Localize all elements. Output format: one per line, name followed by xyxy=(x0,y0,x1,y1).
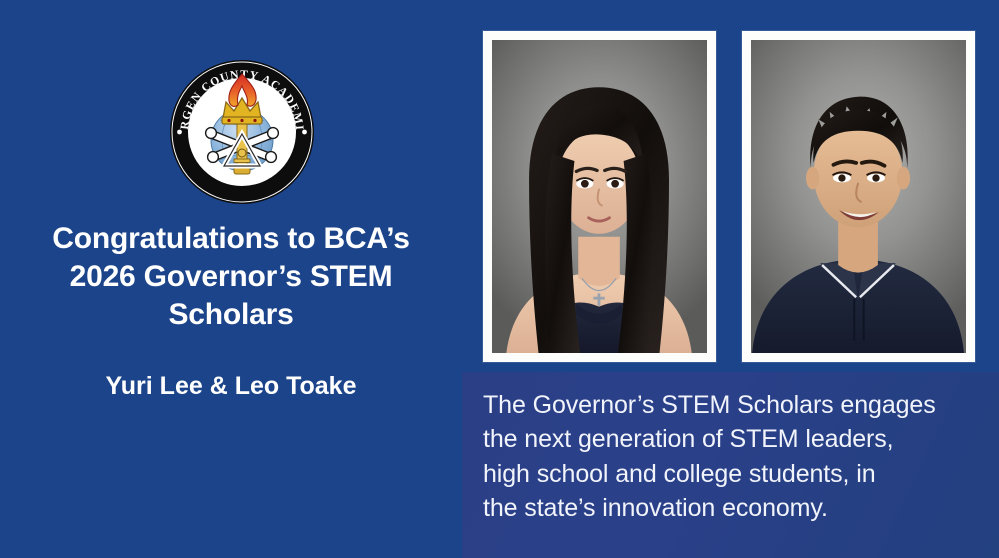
caption-text: The Governor’s STEM Scholars engages the… xyxy=(483,388,983,525)
caption-line-3: high school and college students, in xyxy=(483,457,983,491)
student-photo-right-image xyxy=(751,40,966,353)
portrait-illustration-right xyxy=(751,40,966,353)
portrait-illustration-left xyxy=(492,40,707,353)
caption-line-4: the state’s innovation economy. xyxy=(483,491,983,525)
headline-line-1: Congratulations to BCA’s xyxy=(28,220,434,258)
seal-icon: BERGEN COUNTY ACADEMIES HACKENSACK, NEW … xyxy=(168,58,316,206)
left-content-column: BERGEN COUNTY ACADEMIES HACKENSACK, NEW … xyxy=(0,0,462,558)
page-title: Congratulations to BCA’s 2026 Governor’s… xyxy=(28,220,434,333)
student-photo-right xyxy=(742,31,975,362)
headline-line-2: 2026 Governor’s STEM xyxy=(28,258,434,296)
school-seal-logo: BERGEN COUNTY ACADEMIES HACKENSACK, NEW … xyxy=(168,58,316,206)
headline-line-3: Scholars xyxy=(28,296,434,334)
student-photo-left-image xyxy=(492,40,707,353)
caption-line-2: the next generation of STEM leaders, xyxy=(483,422,983,456)
student-photo-left xyxy=(483,31,716,362)
announcement-slide: BERGEN COUNTY ACADEMIES HACKENSACK, NEW … xyxy=(0,0,999,558)
caption-line-1: The Governor’s STEM Scholars engages xyxy=(483,388,983,422)
caption-panel: The Governor’s STEM Scholars engages the… xyxy=(462,372,999,558)
honoree-names: Yuri Lee & Leo Toake xyxy=(28,372,434,401)
